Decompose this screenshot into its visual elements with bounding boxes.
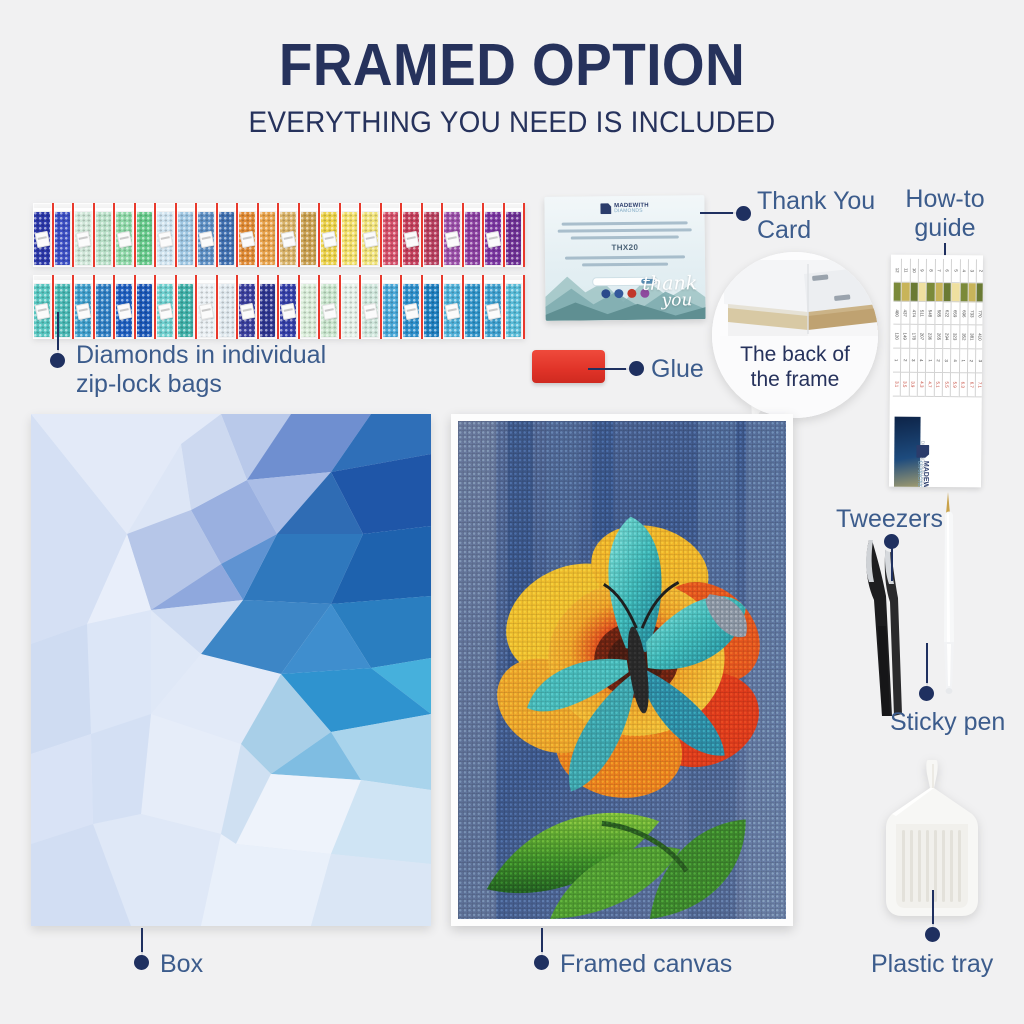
zip-lock-bag [402,275,423,339]
canvas-artwork [458,421,786,919]
bag-zip-strip [320,208,339,211]
bag-zip-strip [341,280,360,283]
color-chart-cell: 733 [968,302,976,326]
bag-zip-strip [136,208,155,211]
callout-label-glue-line1: Glue [651,355,704,384]
tweezers-item [852,530,922,720]
color-chart-cell: 410 [976,326,983,350]
bag-zip-strip [259,280,278,283]
bag-zip-strip [136,280,155,283]
bag-zip-strip [115,280,134,283]
zip-lock-bag [74,203,95,267]
zip-lock-bag [320,275,341,339]
color-chart-cell: 2 [977,259,983,283]
color-chart-cell: 474 [910,301,918,325]
bag-zip-strip [54,208,73,211]
bubble-caption: The back of the frame [712,342,878,392]
zip-lock-bag [197,275,218,339]
bag-zip-strip [279,208,298,211]
zip-lock-bag [300,203,321,267]
zip-lock-bag [259,203,280,267]
color-chart-cell: 3 [969,259,977,283]
leader-line-plastic-tray [932,890,934,930]
pinterest-icon [627,289,636,298]
card-brand-logo: MADEWITH DIAMONDS [544,202,704,215]
zip-lock-bags-group [33,203,525,339]
bag-diamond-fill [260,212,276,265]
bag-zip-strip [74,280,93,283]
callout-label-diamonds-line1: Diamonds in individual [76,341,366,370]
bag-diamond-fill [96,284,112,337]
zip-lock-bag [33,275,54,339]
bag-diamond-fill [506,212,522,265]
color-chart-cell [919,283,926,302]
zip-lock-bag [218,203,239,267]
color-chart-cell [935,283,942,302]
framed-canvas [451,414,793,926]
guide-brand-word2: DIAMONDS [916,461,922,488]
bag-diamond-fill [342,284,358,337]
zip-lock-bag [238,203,259,267]
bag-zip-strip [95,280,114,283]
bag-diamond-fill [260,284,276,337]
color-chart-cell: 294 [943,326,951,350]
color-chart-table: 1240012013.11143714923.51047417833.99511… [893,259,980,398]
color-chart-cell: 437 [902,301,910,325]
zip-lock-bag [382,275,403,339]
zip-lock-bag [443,275,464,339]
zip-lock-bag [341,203,362,267]
zip-lock-bag [402,203,423,267]
infographic-root: FRAMED OPTION EVERYTHING YOU NEED IS INC… [0,0,1024,1024]
color-chart-cell: 352 [960,326,968,350]
box-lowpoly-artwork [31,414,431,926]
callout-label-glue: Glue [651,355,704,384]
color-chart-cell [960,283,967,302]
leader-line-glue [588,368,632,370]
callout-label-diamonds: Diamonds in individual zip-lock bags [76,341,366,399]
facebook-icon [601,289,610,298]
zip-lock-bag [136,275,157,339]
callout-label-sticky-pen: Sticky pen [890,708,1005,737]
color-chart-cell: 4.7 [926,373,934,397]
bag-zip-strip [259,208,278,211]
bag-diamond-fill [178,284,194,337]
product-box: MADEWITH DIAMONDS [31,414,431,926]
bag-diamond-fill [383,212,399,265]
bag-zip-strip [197,208,216,211]
bag-diamond-fill [301,284,317,337]
bag-diamond-fill [465,212,481,265]
bag-diamond-fill [383,284,399,337]
color-chart-cell: 3.5 [901,373,909,397]
color-chart-cell: 4 [951,349,959,373]
color-chart-cell: 6.3 [959,373,967,397]
bag-zip-strip [382,280,401,283]
bag-zip-strip [423,280,442,283]
bag-zip-strip [279,280,298,283]
bag-diamond-fill [137,212,153,265]
color-chart-cell: 5.9 [951,373,959,397]
frame-corner-illustration [712,252,878,418]
zip-lock-bag [443,203,464,267]
bag-zip-strip [402,208,421,211]
callout-dot-plastic-tray [925,927,940,942]
color-chart-cell: 585 [935,302,943,326]
zip-lock-bag-row-top [33,203,525,267]
zip-lock-bag [156,203,177,267]
color-chart-cell: 12 [894,259,902,283]
zip-lock-bag [238,275,259,339]
bag-zip-strip [484,280,503,283]
guide-brand-logo: MADEWITH DIAMONDS [916,445,929,488]
color-chart-cell: 1 [960,350,968,374]
color-chart-cell: 622 [943,302,951,326]
leader-line-sticky-pen [926,643,928,688]
callout-dot-sticky-pen [919,686,934,701]
color-chart-cell: 207 [918,325,926,349]
color-chart-cell: 400 [893,301,901,325]
color-chart-cell [910,283,917,302]
back-of-frame-bubble: The back of the frame [712,252,878,418]
color-chart-cell: 149 [902,325,910,349]
zip-lock-bag [484,203,505,267]
callout-dot-framed-canvas [534,955,549,970]
color-chart-cell: 3 [976,350,983,374]
zip-lock-bag [33,203,54,267]
color-chart-cell: 7.1 [976,373,983,397]
callout-label-how-to-guide-line2: guide [880,214,1010,243]
bag-zip-strip [238,280,257,283]
color-chart-cell: 323 [951,326,959,350]
bag-zip-strip [197,280,216,283]
bag-diamond-fill [424,212,440,265]
callout-label-how-to-guide: How-to guide [880,185,1010,243]
callout-label-box: Box [160,950,203,979]
bag-zip-strip [464,208,483,211]
color-chart-cell: 236 [927,325,935,349]
callout-label-plastic-tray-line1: Plastic tray [871,950,993,979]
bubble-caption-line2: the frame [712,367,878,392]
color-chart-cell: 10 [910,259,918,283]
sticky-pen-illustration [936,492,962,698]
color-chart-cell: 9 [919,259,927,283]
color-chart-cell: 4 [960,259,968,283]
thank-you-card: MADEWITH DIAMONDS THX20 thank you [544,195,705,321]
zip-lock-bag [423,275,444,339]
bag-diamond-fill [137,284,153,337]
color-chart-cell: 7 [935,259,943,283]
twitter-icon [614,289,623,298]
color-chart-cell: 11 [902,259,910,283]
zip-lock-bag [177,275,198,339]
sticky-pen-item [936,492,962,698]
callout-label-framed-canvas: Framed canvas [560,950,732,979]
zip-lock-bag-row-bottom [33,275,525,339]
callout-label-box-line1: Box [160,950,203,979]
brand-mark-icon [600,203,611,214]
color-chart-cell [977,283,983,302]
callout-dot-glue [629,361,644,376]
zip-lock-bag [361,203,382,267]
bag-diamond-fill [506,284,522,337]
bag-zip-strip [402,280,421,283]
zip-lock-bag [279,275,300,339]
bag-zip-strip [156,208,175,211]
guide-brand-word1: MADEWITH [922,461,929,488]
color-chart-cell: 5 [952,259,960,283]
bag-zip-strip [156,280,175,283]
color-chart-cell: 120 [893,325,901,349]
zip-lock-bag [300,275,321,339]
callout-label-how-to-guide-line1: How-to [880,185,1010,214]
bag-diamond-fill [96,212,112,265]
zip-lock-bag [341,275,362,339]
brand-mark-icon [916,445,929,458]
zip-lock-bag [320,203,341,267]
zip-lock-bag [484,275,505,339]
bag-zip-strip [300,208,319,211]
bag-zip-strip [443,208,462,211]
zip-lock-bag [177,203,198,267]
callout-label-tweezers: Tweezers [836,505,943,534]
how-to-guide: 1240012013.11143714923.51047417833.99511… [889,255,983,488]
leader-line-diamonds [57,312,59,356]
color-chart-cell: 6.7 [968,373,976,397]
bubble-caption-line1: The back of [712,342,878,367]
frame-corner-photo [712,252,878,418]
color-chart-cell: 178 [910,325,918,349]
bag-zip-strip [33,280,52,283]
leader-line-thank-you-card [700,212,740,214]
bag-zip-strip [238,208,257,211]
color-chart-cell: 5.1 [934,373,942,397]
bag-zip-strip [115,208,134,211]
tweezers-illustration [852,530,922,720]
color-chart-cell: 1 [926,349,934,373]
bag-diamond-fill [219,212,235,265]
bag-diamond-fill [465,284,481,337]
color-chart-cell: 696 [960,302,968,326]
bag-zip-strip [423,208,442,211]
zip-lock-bag [464,203,485,267]
zip-lock-bag [279,203,300,267]
color-chart-cell: 659 [952,302,960,326]
color-chart-cell: 381 [968,326,976,350]
zip-lock-bag [197,203,218,267]
color-chart-cell [902,283,909,302]
color-chart-cell: 2 [901,349,909,373]
color-chart-cell: 3 [943,349,951,373]
card-message-text: THX20 [557,221,692,270]
bag-zip-strip [177,280,196,283]
glue-item [532,350,605,383]
callout-label-thank-you-card: Thank You Card [757,187,887,245]
bag-diamond-fill [178,212,194,265]
card-script-line2: you [656,292,697,309]
bag-diamond-fill [342,212,358,265]
bag-zip-strip [300,280,319,283]
color-chart-cell: 3.1 [893,373,901,397]
bag-zip-strip [382,208,401,211]
color-chart-cell: 5.5 [943,373,951,397]
bag-zip-strip [361,280,380,283]
zip-lock-bag [115,275,136,339]
bag-zip-strip [95,208,114,211]
card-promo-code: THX20 [558,242,692,252]
card-brand-word2: DIAMONDS [614,209,649,214]
card-thank-you-script: thank you [642,275,697,310]
bag-zip-strip [464,280,483,283]
zip-lock-bag [74,275,95,339]
color-chart-cell: 511 [918,302,926,326]
callout-dot-diamonds [50,353,65,368]
callout-dot-tweezers [884,534,899,549]
bag-zip-strip [218,280,237,283]
zip-lock-bag [505,203,526,267]
bag-zip-strip [74,208,93,211]
leader-line-tweezers [891,548,893,581]
color-chart-cell: 1 [893,349,901,373]
color-chart-cell: 4.3 [918,373,926,397]
callout-dot-box [134,955,149,970]
bag-zip-strip [341,208,360,211]
bag-zip-strip [361,208,380,211]
zip-lock-bag [95,275,116,339]
bag-zip-strip [320,280,339,283]
color-chart-cell: 2 [968,350,976,374]
callout-label-thank-you-card-line2: Card [757,216,887,245]
color-chart-cell: 4 [918,349,926,373]
color-chart-column: 277041037.1 [976,259,983,397]
page-title: FRAMED OPTION [36,34,988,96]
zip-lock-bag [423,203,444,267]
color-chart-cell [969,283,976,302]
sunflower-butterfly-art [458,421,786,919]
callout-label-plastic-tray: Plastic tray [871,950,993,979]
bag-diamond-fill [55,212,71,265]
color-chart-cell: 3 [910,349,918,373]
callout-label-diamonds-line2: zip-lock bags [76,370,366,399]
zip-lock-bag [115,203,136,267]
bag-diamond-fill [424,284,440,337]
zip-lock-bag [54,203,75,267]
color-chart-cell: 265 [935,325,943,349]
zip-lock-bag [505,275,526,339]
bag-zip-strip [484,208,503,211]
color-chart-cell [952,283,959,302]
zip-lock-bag [464,275,485,339]
zip-lock-bag [136,203,157,267]
bag-zip-strip [218,208,237,211]
callout-label-framed-canvas-line1: Framed canvas [560,950,732,979]
bag-diamond-fill [301,212,317,265]
color-chart-cell [927,283,934,302]
callout-label-tweezers-line1: Tweezers [836,505,943,534]
zip-lock-bag [95,203,116,267]
bag-zip-strip [33,208,52,211]
bag-zip-strip [505,208,524,211]
color-chart-cell: 548 [927,302,935,326]
color-chart-cell: 6 [944,259,952,283]
zip-lock-bag [382,203,403,267]
zip-lock-bag [259,275,280,339]
callout-dot-thank-you-card [736,206,751,221]
bag-zip-strip [505,280,524,283]
bag-zip-strip [54,280,73,283]
callout-label-thank-you-card-line1: Thank You [757,187,887,216]
color-chart-cell: 8 [927,259,935,283]
bag-zip-strip [443,280,462,283]
color-chart-cell: 3.9 [909,373,917,397]
zip-lock-bag [361,275,382,339]
bag-zip-strip [177,208,196,211]
zip-lock-bag [218,275,239,339]
color-chart-cell [944,283,951,302]
bag-diamond-fill [219,284,235,337]
zip-lock-bag [156,275,177,339]
page-subtitle: EVERYTHING YOU NEED IS INCLUDED [36,106,988,140]
color-chart-cell: 2 [935,349,943,373]
color-chart-cell [894,282,901,301]
callout-label-sticky-pen-line1: Sticky pen [890,708,1005,737]
color-chart-cell: 770 [977,302,983,326]
